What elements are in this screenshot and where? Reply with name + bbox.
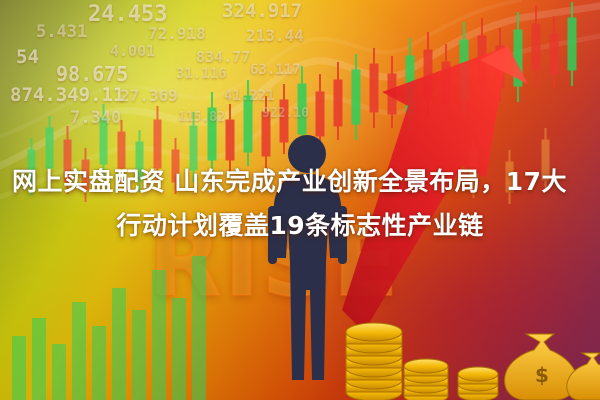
banner-image: 24.453 324.917 5.431 72.918 213.44 54 4.… xyxy=(0,0,600,400)
background-sheen xyxy=(0,0,600,400)
